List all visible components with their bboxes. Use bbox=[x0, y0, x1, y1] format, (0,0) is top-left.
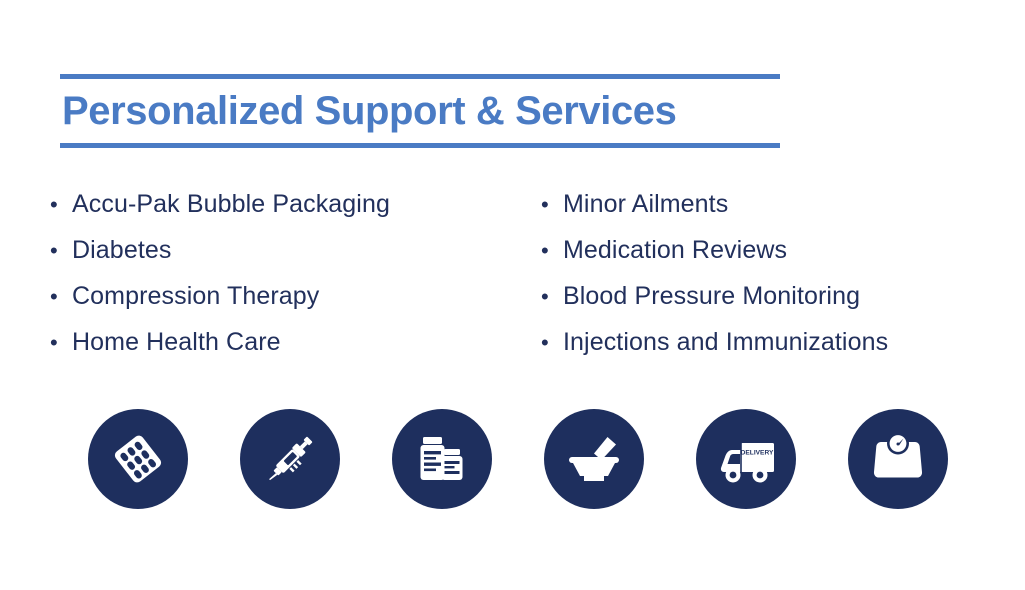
list-item: • Home Health Care bbox=[50, 319, 541, 365]
service-icons-row: DELIVERY bbox=[88, 409, 948, 509]
icon-badge-blister-pack bbox=[88, 409, 188, 509]
bullet-icon: • bbox=[541, 228, 563, 274]
icon-badge-mortar-pestle bbox=[544, 409, 644, 509]
icon-badge-syringe bbox=[240, 409, 340, 509]
list-item: • Blood Pressure Monitoring bbox=[541, 273, 1010, 319]
bullet-icon: • bbox=[50, 274, 72, 320]
list-item: • Accu-Pak Bubble Packaging bbox=[50, 181, 541, 227]
pill-bottles-icon bbox=[412, 429, 472, 489]
bullet-icon: • bbox=[50, 228, 72, 274]
services-column-right: • Minor Ailments • Medication Reviews • … bbox=[541, 181, 1010, 365]
slide-root: Personalized Support & Services • Accu-P… bbox=[0, 0, 1025, 590]
list-item-label: Accu-Pak Bubble Packaging bbox=[72, 181, 390, 227]
mortar-pestle-icon bbox=[563, 428, 625, 490]
icon-badge-weight-scale bbox=[848, 409, 948, 509]
blister-pack-icon bbox=[107, 428, 169, 490]
list-item: • Diabetes bbox=[50, 227, 541, 273]
weight-scale-icon bbox=[867, 428, 929, 490]
page-title: Personalized Support & Services bbox=[60, 79, 780, 143]
delivery-truck-icon: DELIVERY bbox=[713, 426, 779, 492]
list-item-label: Medication Reviews bbox=[563, 227, 787, 273]
bullet-icon: • bbox=[541, 182, 563, 228]
bullet-icon: • bbox=[541, 320, 563, 366]
list-item-label: Home Health Care bbox=[72, 319, 281, 365]
list-item: • Medication Reviews bbox=[541, 227, 1010, 273]
list-item: • Injections and Immunizations bbox=[541, 319, 1010, 365]
list-item-label: Blood Pressure Monitoring bbox=[563, 273, 860, 319]
bullet-icon: • bbox=[50, 182, 72, 228]
services-lists: • Accu-Pak Bubble Packaging • Diabetes •… bbox=[50, 181, 1010, 365]
title-block: Personalized Support & Services bbox=[60, 74, 780, 148]
icon-badge-pill-bottles bbox=[392, 409, 492, 509]
list-item: • Compression Therapy bbox=[50, 273, 541, 319]
list-item-label: Injections and Immunizations bbox=[563, 319, 888, 365]
list-item-label: Diabetes bbox=[72, 227, 171, 273]
truck-delivery-label: DELIVERY bbox=[741, 450, 774, 457]
services-column-left: • Accu-Pak Bubble Packaging • Diabetes •… bbox=[50, 181, 541, 365]
icon-badge-delivery-truck: DELIVERY bbox=[696, 409, 796, 509]
bullet-icon: • bbox=[50, 320, 72, 366]
title-rule-bottom bbox=[60, 143, 780, 148]
syringe-icon bbox=[258, 427, 322, 491]
list-item-label: Compression Therapy bbox=[72, 273, 319, 319]
bullet-icon: • bbox=[541, 274, 563, 320]
list-item-label: Minor Ailments bbox=[563, 181, 728, 227]
list-item: • Minor Ailments bbox=[541, 181, 1010, 227]
